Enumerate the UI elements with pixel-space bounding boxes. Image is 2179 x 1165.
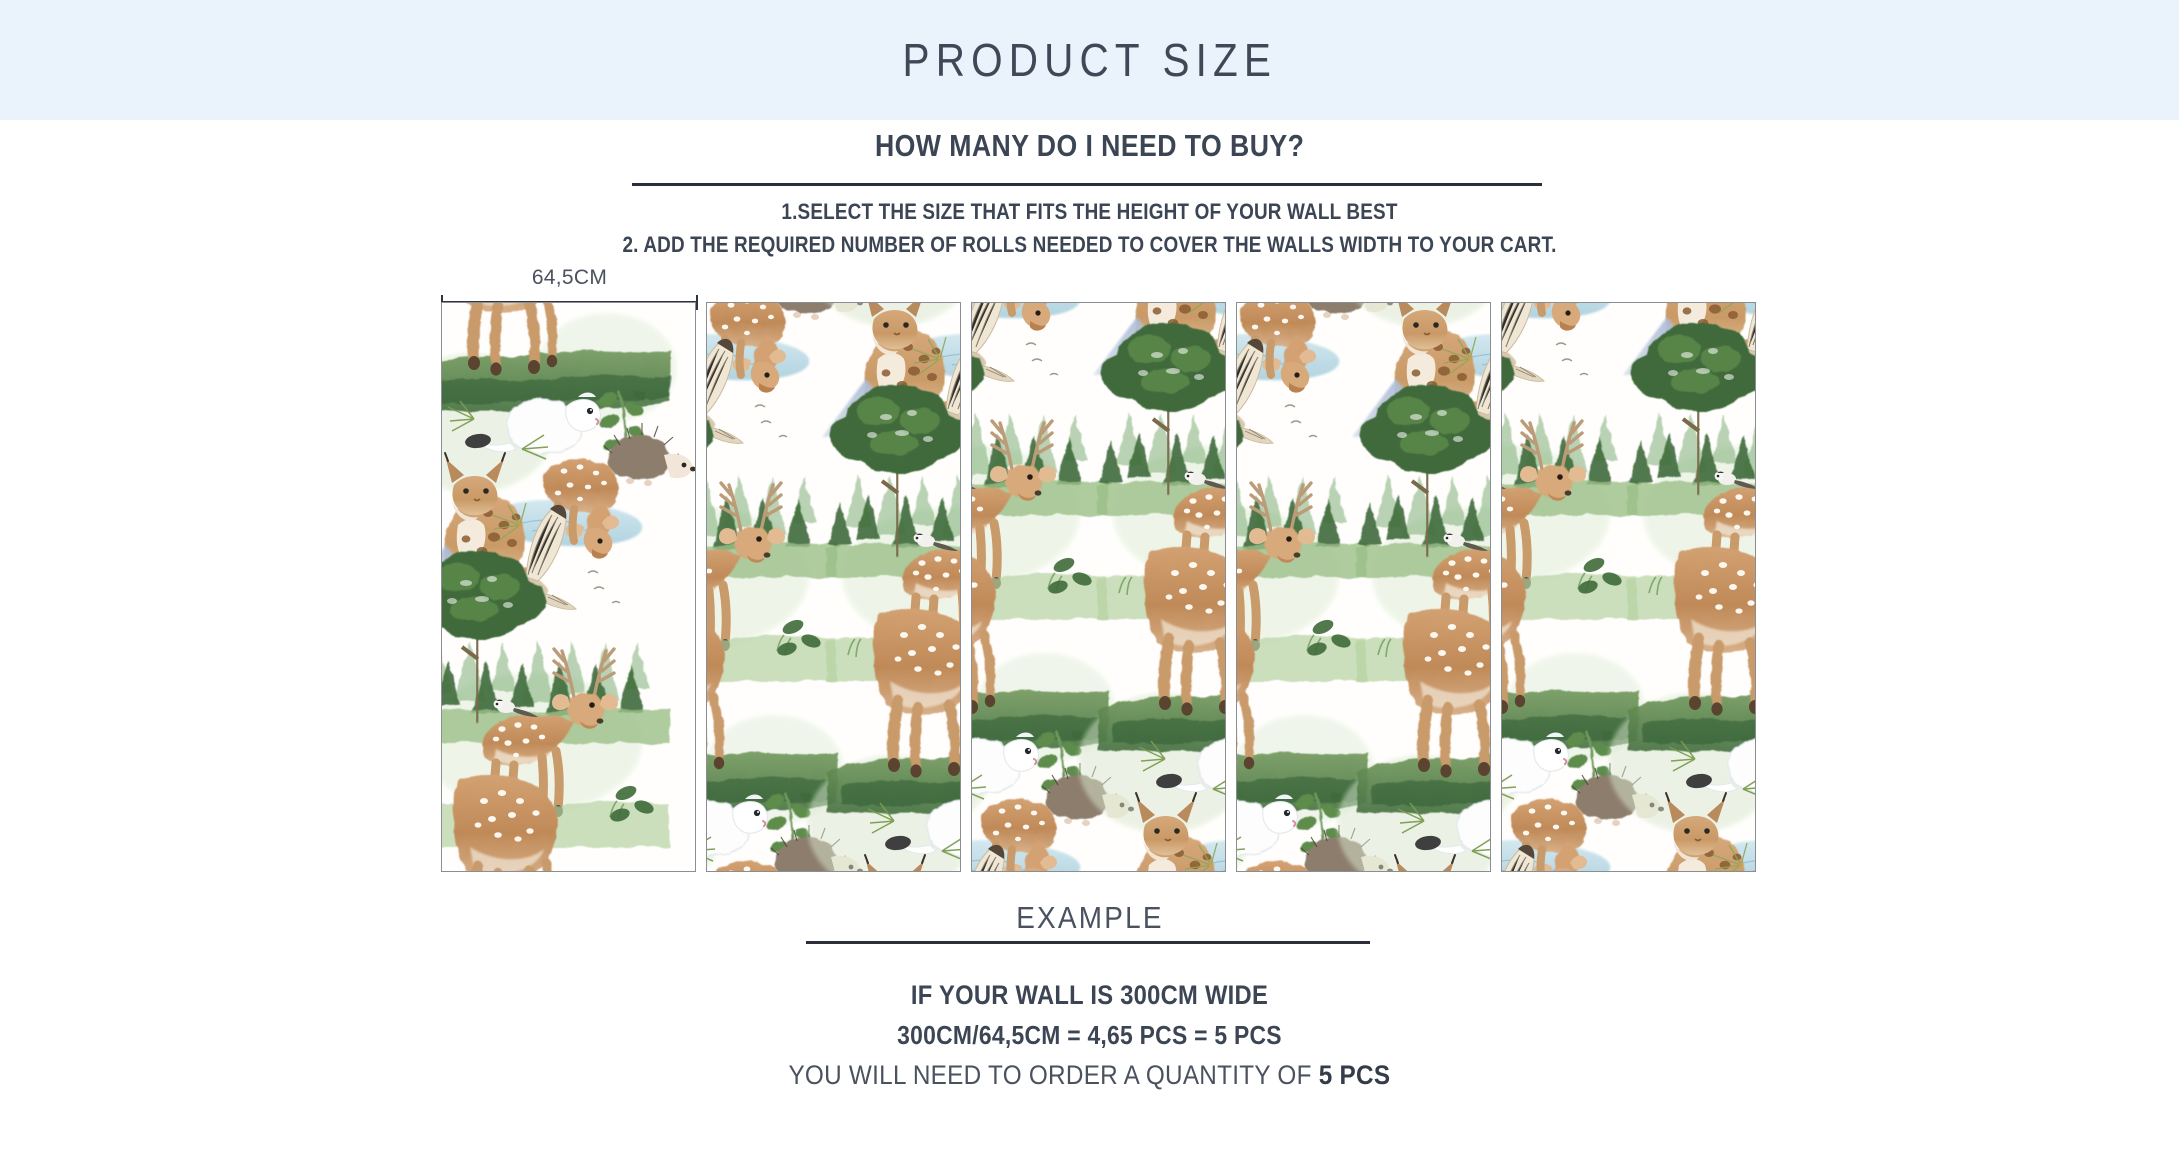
instructions-heading: HOW MANY DO I NEED TO BUY? — [875, 128, 1304, 164]
example-title: EXAMPLE — [1016, 900, 1164, 936]
dimension-label: 64,5CM — [441, 266, 698, 290]
example-order-quantity: YOU WILL NEED TO ORDER A QUANTITY OF 5 P… — [789, 1060, 1391, 1091]
woodland-pattern-artwork — [972, 303, 1225, 871]
instructions-divider — [632, 183, 1542, 186]
wallpaper-panel-3[interactable] — [971, 302, 1226, 872]
woodland-pattern-artwork — [1237, 303, 1490, 871]
example-order-value: 5 PCS — [1319, 1060, 1391, 1090]
wallpaper-panel-4[interactable] — [1236, 302, 1491, 872]
wallpaper-panel-5[interactable] — [1501, 302, 1756, 872]
example-title-wrap: EXAMPLE — [0, 900, 2179, 936]
example-line-wall-width: IF YOUR WALL IS 300CM WIDE — [131, 975, 2049, 1016]
page-header-band: PRODUCT SIZE — [0, 0, 2179, 120]
example-divider — [806, 941, 1370, 944]
wallpaper-panel-1[interactable] — [441, 302, 696, 872]
woodland-pattern-artwork — [1502, 303, 1755, 871]
woodland-pattern-artwork — [707, 303, 960, 871]
example-line-formula: 300CM/64,5CM = 4,65 PCS = 5 PCS — [131, 1016, 2049, 1055]
example-order-wrap: YOU WILL NEED TO ORDER A QUANTITY OF 5 P… — [0, 1060, 2179, 1091]
example-order-prefix: YOU WILL NEED TO ORDER A QUANTITY OF — [789, 1060, 1319, 1090]
woodland-pattern-artwork — [442, 303, 695, 871]
instruction-step-2: 2. ADD THE REQUIRED NUMBER OF ROLLS NEED… — [153, 229, 2027, 262]
instructions-steps: 1.SELECT THE SIZE THAT FITS THE HEIGHT O… — [0, 196, 2179, 261]
wallpaper-panel-2[interactable] — [706, 302, 961, 872]
instructions-heading-wrap: HOW MANY DO I NEED TO BUY? — [0, 128, 2179, 164]
page-title: PRODUCT SIZE — [902, 33, 1277, 87]
instruction-step-1: 1.SELECT THE SIZE THAT FITS THE HEIGHT O… — [153, 196, 2027, 229]
dimension-tick-right — [696, 295, 698, 310]
example-calculation: IF YOUR WALL IS 300CM WIDE 300CM/64,5CM … — [0, 975, 2179, 1055]
